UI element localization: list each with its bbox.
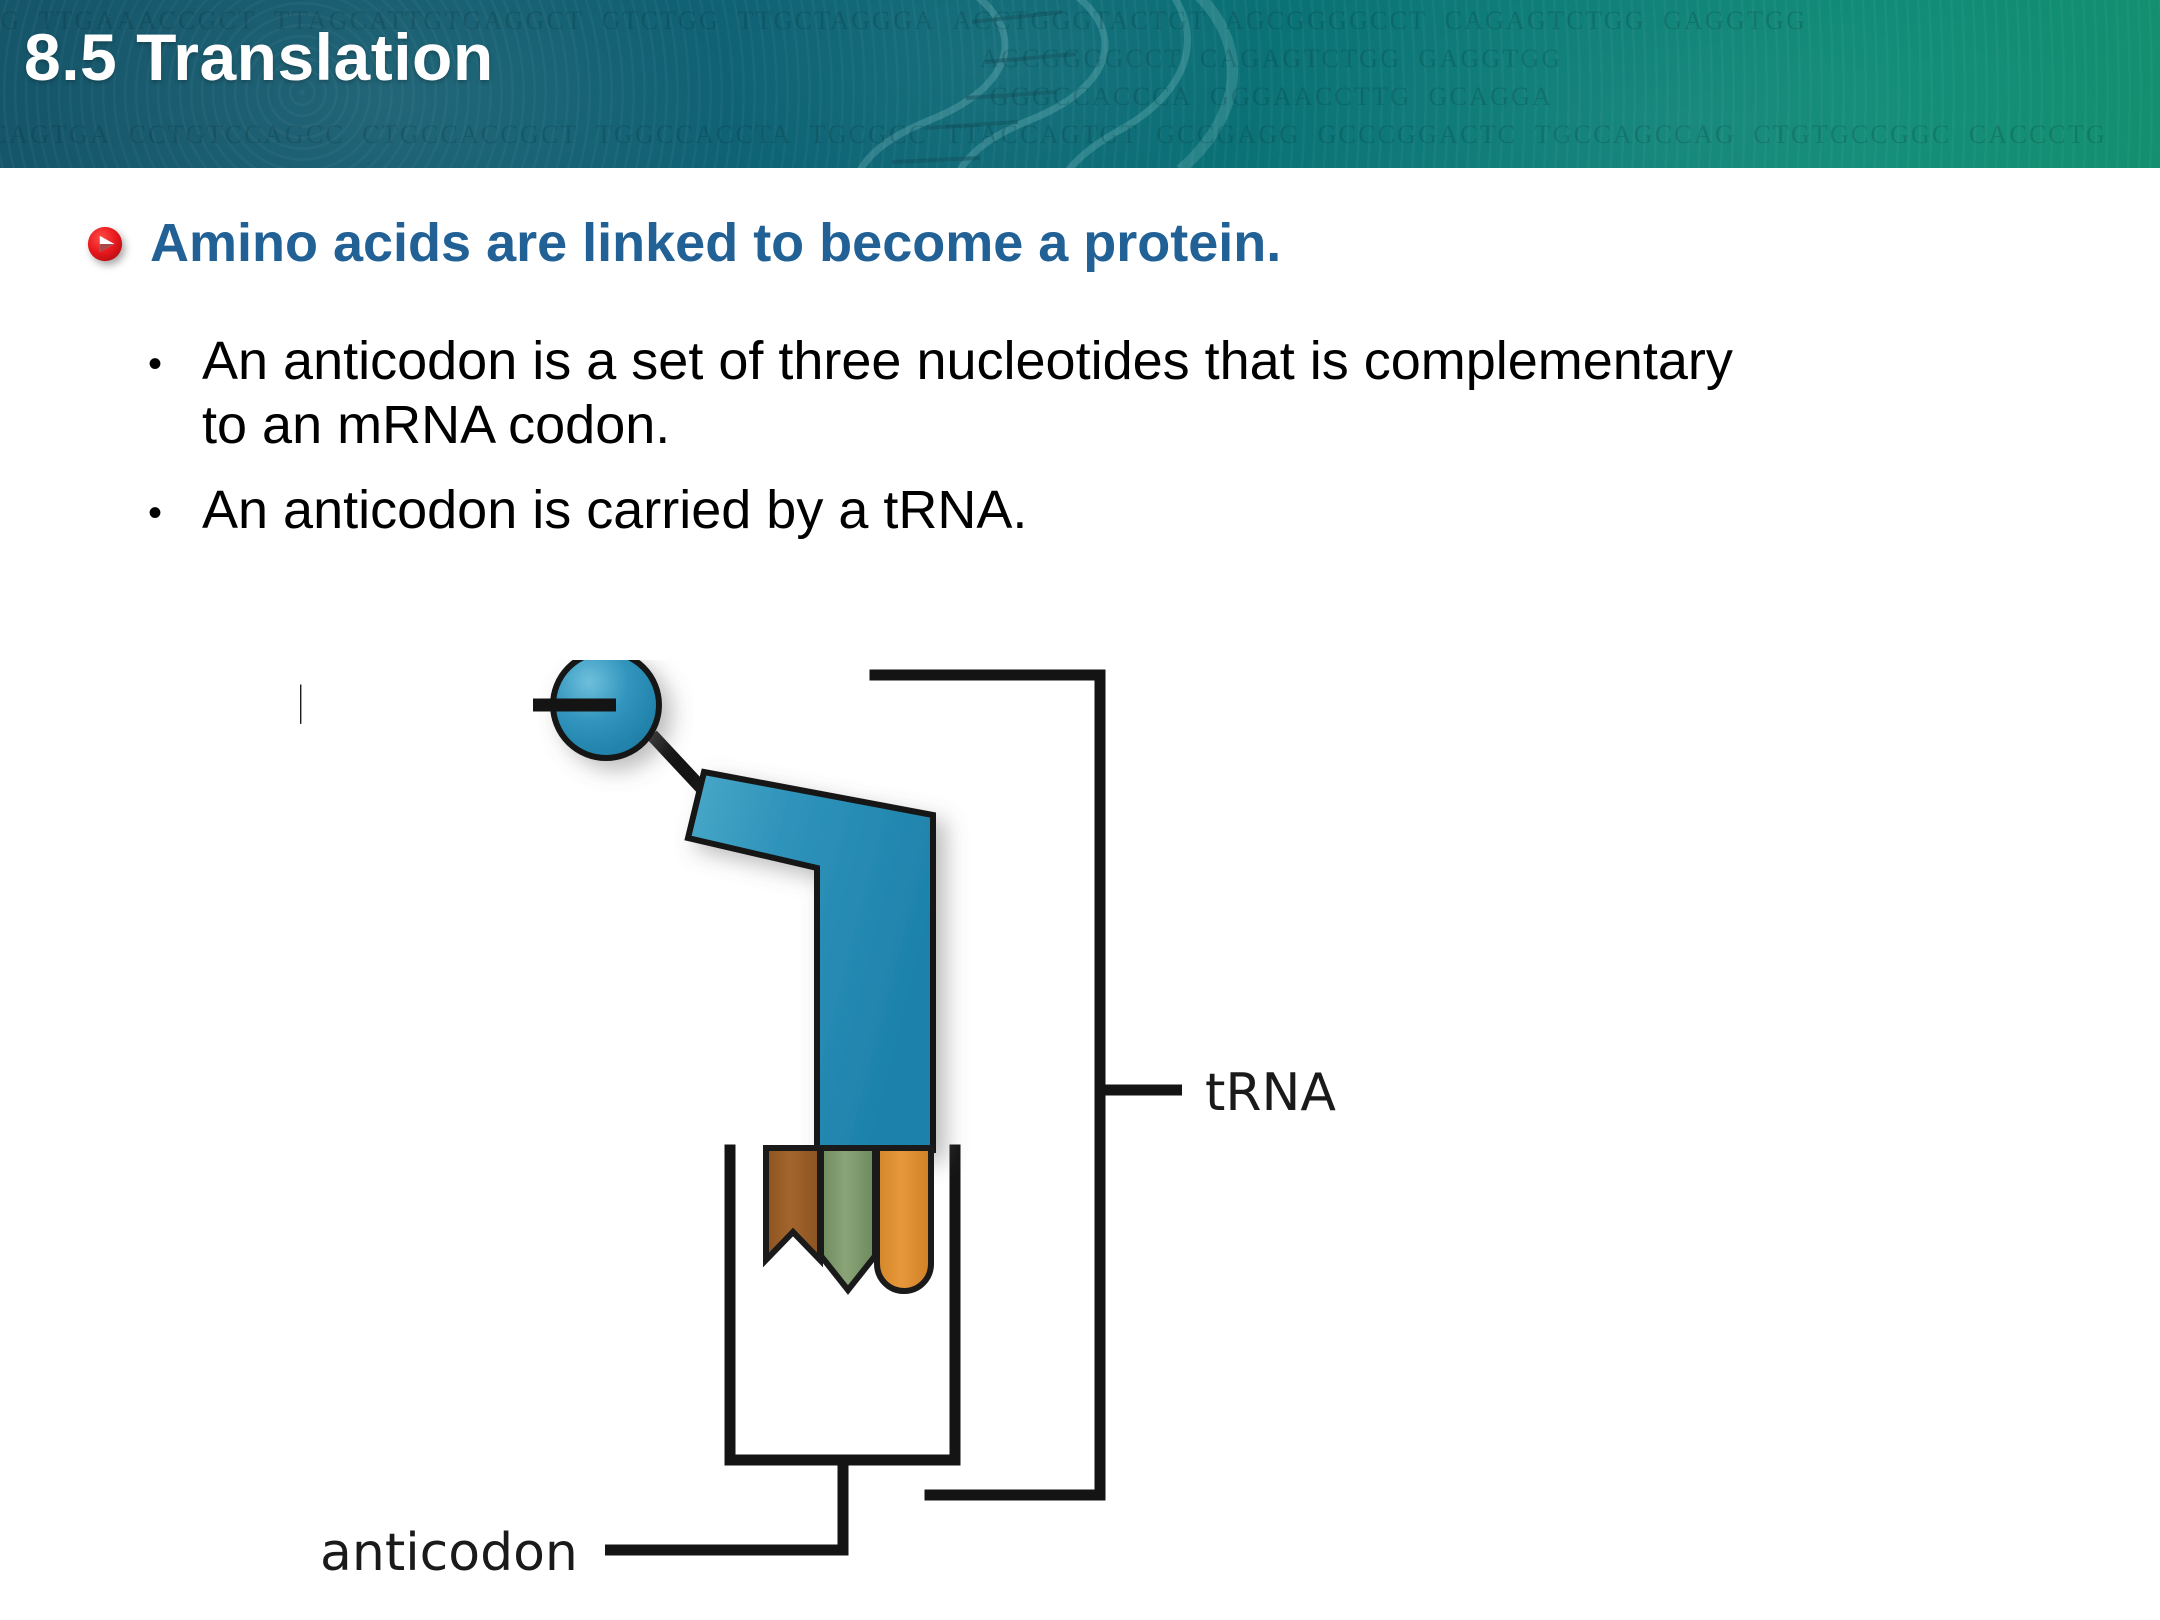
play-circle-icon [86, 225, 124, 263]
slide-root: CCACGCG TTGAAACCGCT TTAGCATTGTGAGGCT GTC… [0, 0, 2160, 1620]
trna-body-shape [688, 772, 933, 1150]
page-title: 8.5 Translation [24, 24, 494, 90]
trna-label: tRNA [1205, 1063, 1336, 1123]
nucleotide-brown [766, 1148, 820, 1260]
list-item: • An anticodon is a set of three nucleot… [148, 330, 1868, 457]
anticodon-leader-line [605, 1460, 843, 1550]
list-item: • An anticodon is carried by a tRNA. [148, 479, 1868, 543]
bullet-glyph: • [148, 330, 202, 384]
anticodon-label: anticodon [320, 1523, 578, 1583]
dna-sequence-row: CCAGTGA CCTGTCCAGCC CTGCCACCGCT TGGCCACC… [0, 120, 2160, 150]
bullet-glyph: • [148, 479, 202, 533]
trna-diagram: tRNA anticodon [300, 660, 1800, 1610]
dna-sequence-row: AGCGGGGCCT CAGAGTCTGG GAGGTGG [980, 44, 2160, 74]
amino-acid-label: amino acid [300, 677, 306, 737]
nucleotide-green [821, 1148, 875, 1290]
list-item-text: An anticodon is a set of three nucleotid… [202, 330, 1762, 457]
section-heading-text: Amino acids are linked to become a prote… [150, 214, 1281, 273]
dna-helix-icon [780, 0, 1400, 168]
slide-header-banner: CCACGCG TTGAAACCGCT TTAGCATTGTGAGGCT GTC… [0, 0, 2160, 168]
section-heading: Amino acids are linked to become a prote… [86, 214, 1281, 273]
dna-sequence-row: GGGCCACCCA GGGAACCTTG GCAGGA [990, 82, 2160, 112]
bullet-list: • An anticodon is a set of three nucleot… [148, 330, 1868, 565]
list-item-text: An anticodon is carried by a tRNA. [202, 479, 1027, 543]
nucleotide-orange [877, 1148, 931, 1291]
